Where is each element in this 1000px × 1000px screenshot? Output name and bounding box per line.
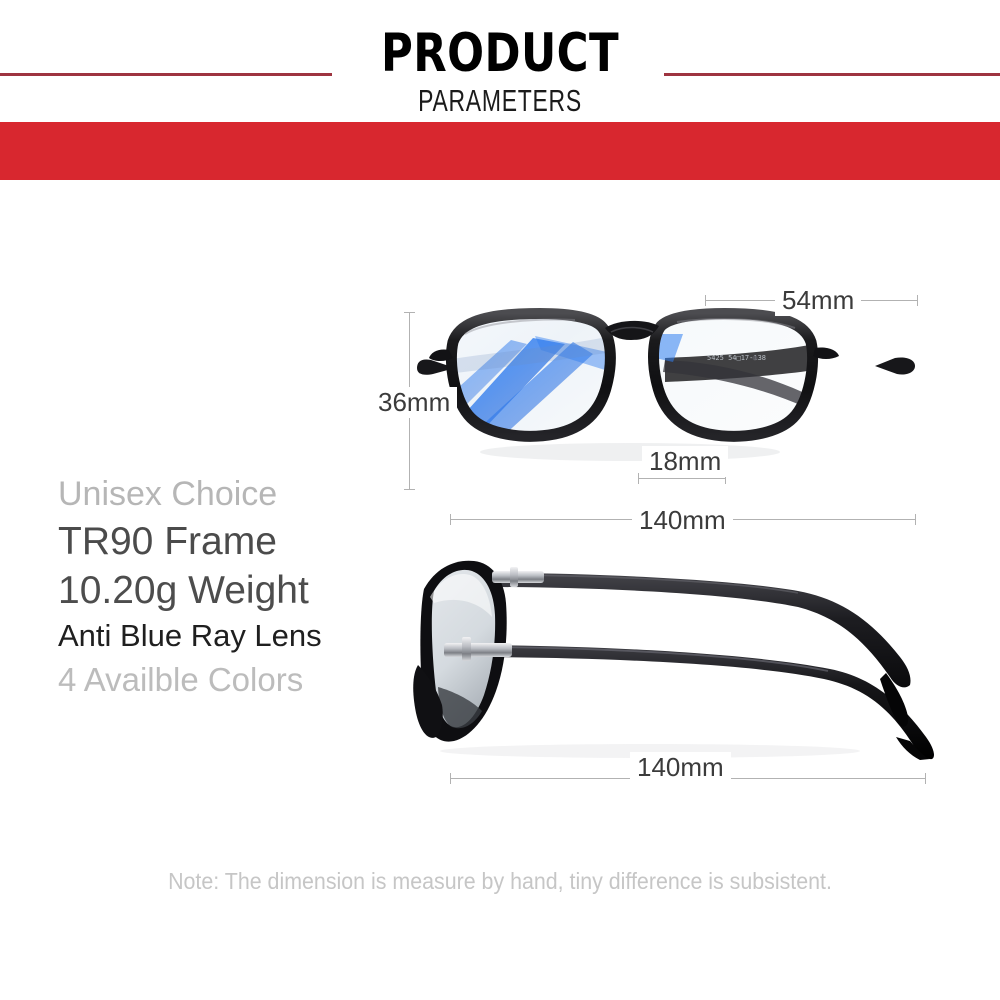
dimension-line-bridge-width <box>638 478 726 479</box>
right-endpiece <box>813 347 839 359</box>
far-hinge-post <box>510 567 518 587</box>
header-red-band <box>0 122 1000 180</box>
dimension-label-front-total-width: 140mm <box>632 505 733 536</box>
dimension-label-lens-height: 36mm <box>371 387 457 418</box>
near-hinge-post <box>462 637 471 661</box>
near-temple-arm <box>460 645 934 759</box>
spec-line-unisex-choice: Unisex Choice <box>58 472 388 517</box>
footer-note: Note: The dimension is measure by hand, … <box>35 868 965 895</box>
dimension-label-temple-length: 140mm <box>630 752 731 783</box>
spec-list: Unisex Choice TR90 Frame 10.20g Weight A… <box>58 472 388 702</box>
spec-line-color-count: 4 Availble Colors <box>58 657 388 702</box>
spec-line-lens-type: Anti Blue Ray Lens <box>58 615 388 657</box>
page-header: PRODUCT PARAMETERS <box>0 0 1000 182</box>
page-subtitle: PARAMETERS <box>130 84 870 118</box>
left-endpiece <box>429 349 453 361</box>
header-title-block: PRODUCT PARAMETERS <box>0 26 1000 118</box>
dimension-label-lens-width: 54mm <box>775 285 861 316</box>
page-title: PRODUCT <box>90 26 910 82</box>
eyeglasses-side-view-image <box>400 545 970 760</box>
dimension-label-bridge-width: 18mm <box>642 446 728 477</box>
right-temple-hinge <box>875 357 915 374</box>
near-hinge-accent <box>444 643 512 657</box>
spec-line-frame-material: TR90 Frame <box>58 517 388 566</box>
spec-line-weight: 10.20g Weight <box>58 566 388 615</box>
far-temple-arm <box>490 573 911 687</box>
